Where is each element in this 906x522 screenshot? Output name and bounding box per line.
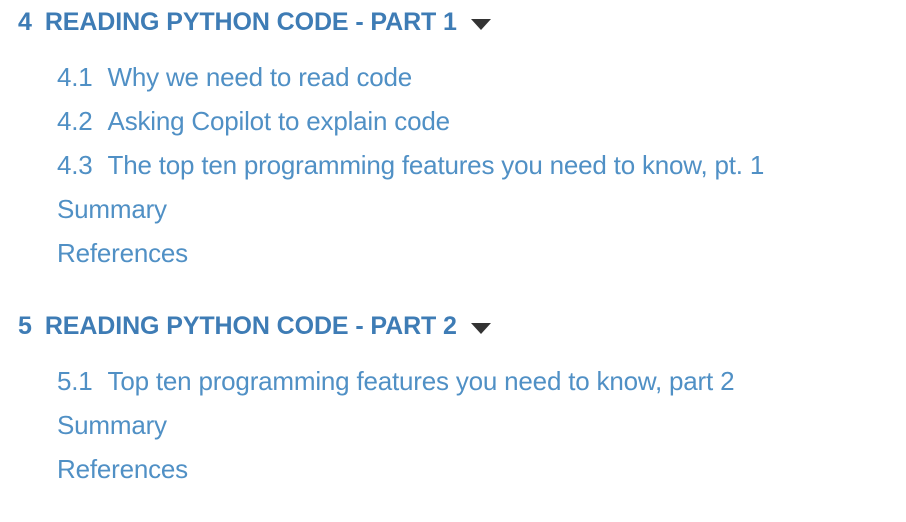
chapter-group: 4 READING PYTHON CODE - PART 1 4.1 Why w… — [0, 0, 906, 282]
chevron-down-icon[interactable] — [471, 323, 491, 334]
section-number: 4.2 — [57, 106, 93, 137]
section-label: Summary — [57, 410, 167, 441]
section-item-4-2[interactable]: 4.2 Asking Copilot to explain code — [0, 106, 906, 150]
chapter-number: 5 — [18, 312, 32, 341]
section-item-summary[interactable]: Summary — [0, 194, 906, 238]
chapter-title: READING PYTHON CODE - PART 1 — [45, 8, 457, 37]
chapter-heading-4[interactable]: 4 READING PYTHON CODE - PART 1 — [0, 0, 906, 44]
chapter-title: READING PYTHON CODE - PART 2 — [45, 312, 457, 341]
section-label: Why we need to read code — [108, 62, 413, 93]
section-list: 4.1 Why we need to read code 4.2 Asking … — [0, 62, 906, 282]
section-label: References — [57, 238, 188, 269]
section-item-5-1[interactable]: 5.1 Top ten programming features you nee… — [0, 366, 906, 410]
section-item-references[interactable]: References — [0, 238, 906, 282]
chevron-down-icon[interactable] — [471, 19, 491, 30]
section-item-references[interactable]: References — [0, 454, 906, 498]
section-list: 5.1 Top ten programming features you nee… — [0, 366, 906, 498]
chapter-number: 4 — [18, 8, 32, 37]
section-label: Summary — [57, 194, 167, 225]
section-label: References — [57, 454, 188, 485]
section-number: 5.1 — [57, 366, 93, 397]
section-item-4-1[interactable]: 4.1 Why we need to read code — [0, 62, 906, 106]
chapter-heading-5[interactable]: 5 READING PYTHON CODE - PART 2 — [0, 304, 906, 348]
section-label: Top ten programming features you need to… — [108, 366, 735, 397]
section-item-summary[interactable]: Summary — [0, 410, 906, 454]
table-of-contents: 4 READING PYTHON CODE - PART 1 4.1 Why w… — [0, 0, 906, 522]
section-number: 4.3 — [57, 150, 93, 181]
section-label: Asking Copilot to explain code — [108, 106, 450, 137]
section-item-4-3[interactable]: 4.3 The top ten programming features you… — [0, 150, 906, 194]
section-number: 4.1 — [57, 62, 93, 93]
chapter-group: 5 READING PYTHON CODE - PART 2 5.1 Top t… — [0, 304, 906, 498]
section-label: The top ten programming features you nee… — [108, 150, 765, 181]
